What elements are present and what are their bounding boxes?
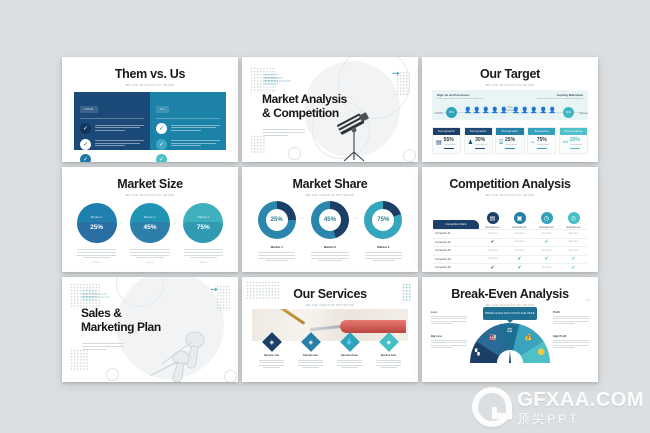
gauge-note: High Profit — [553, 335, 589, 350]
decorative-dots — [402, 283, 412, 301]
comparison-column-them: THEM ✓ ✓ ✓ — [74, 92, 150, 150]
cover-eyebrow: OUR MARKET ANALYSIS REPORT — [263, 77, 293, 84]
column-header-us: US — [156, 106, 169, 113]
cover-body-text — [263, 129, 305, 138]
check-icon: ✓ — [479, 265, 506, 271]
service-item[interactable]: ◈ Service one — [252, 335, 291, 370]
segment-card-caption: Psychographic — [560, 128, 587, 135]
segment-name: Lorem ipsum — [570, 144, 582, 146]
segment-card-caption: Behavioral — [528, 128, 555, 135]
donut-chart: 25% — [258, 201, 296, 239]
list-item-text — [171, 140, 220, 148]
money-bag-icon: 💰 — [525, 335, 532, 341]
slide-thumbnail-market-size[interactable]: Market Size WE ARE CREATIVE PPT BRAND Ma… — [62, 167, 238, 272]
camera-tripod-photo — [324, 100, 380, 162]
share-icon: ⚯ — [563, 140, 568, 146]
check-icon: ✓ — [560, 265, 587, 271]
market-percent: 75% — [197, 224, 210, 231]
segment-name: Lorem ipsum — [505, 144, 517, 146]
icon-glyph: ◈ — [269, 339, 274, 346]
chart-icon: ⌁ — [531, 140, 535, 146]
matrix-label: Competitive Matrix — [433, 220, 479, 229]
clock-icon: ◷ — [541, 212, 553, 224]
segment-percent: 30% — [475, 138, 487, 143]
table-cell: Text here — [560, 241, 587, 243]
market-size-circle: Market 3 75% — [183, 203, 223, 243]
table-column-header: ▤ Example text — [479, 212, 506, 229]
segment-card-caption: Demographic — [465, 128, 492, 135]
globe-icon: ◎ — [568, 212, 580, 224]
chevron-right-icon: › — [174, 221, 176, 227]
decorative-circle — [288, 147, 301, 160]
donut-value: 25% — [258, 201, 296, 239]
donut-value: 75% — [364, 201, 402, 239]
decorative-circle — [106, 368, 119, 381]
axis-tag-left: Lorem — [434, 111, 443, 115]
column-header-them: THEM — [80, 106, 98, 113]
table-column-header: ◷ Example text — [533, 212, 560, 229]
service-body-text — [291, 360, 330, 369]
market-size-item[interactable]: Market 2 45% MORE — [123, 203, 176, 264]
slide-thumbnail-competition-analysis[interactable]: Competition Analysis WE ARE CREATIVE PPT… — [422, 167, 598, 272]
gauge-note: Profit — [553, 311, 589, 326]
check-icon: ✓ — [533, 256, 560, 262]
check-icon: ✓ — [560, 256, 587, 262]
divider — [156, 118, 220, 119]
service-body-text — [252, 360, 291, 369]
slide-thumbnail-market-analysis[interactable]: OUR MARKET ANALYSIS REPORT Market Analys… — [242, 57, 418, 162]
segment-bar — [570, 148, 580, 149]
table-cell: Text here — [479, 250, 506, 252]
market-size-item[interactable]: Market 1 25% MORE — [70, 203, 123, 264]
slide-thumbnail-them-vs-us[interactable]: Them vs. Us WE ARE CREATIVE PPT BRAND TH… — [62, 57, 238, 162]
column-label: Example text — [560, 226, 587, 229]
water-drop-icon: 💧 — [340, 332, 360, 352]
comparison-column-us: US ✓ ✓ ✓ — [150, 92, 226, 150]
column-label: Example text — [479, 226, 506, 229]
comparison-panel: THEM ✓ ✓ ✓ US ✓ — [74, 92, 226, 150]
service-name: Service four — [369, 354, 408, 357]
check-icon: ✓ — [80, 139, 91, 150]
market-percent: 25% — [90, 224, 103, 231]
table-cell: Text here — [479, 233, 506, 235]
page-title: Market Share — [242, 178, 418, 191]
book-icon: ▤ — [487, 212, 499, 224]
page-subtitle: WE ARE CREATIVE PPT BRAND — [62, 194, 238, 197]
donut-chart: 75% — [364, 201, 402, 239]
cover-eyebrow: OUR SALES AND MARKETING PLAN — [82, 293, 112, 300]
segment-bar — [475, 148, 485, 149]
gauge-note: Big Loss — [431, 335, 467, 350]
axis-tag-right: Ipsum — [580, 111, 588, 115]
factory-icon: 🏭 — [489, 335, 496, 341]
persona-bubble-right: 40% — [563, 107, 574, 118]
market-percent: 45% — [143, 224, 156, 231]
check-icon: ✓ — [80, 123, 91, 134]
competition-table: Competitive Matrix ▤ Example text ▣ Exam… — [433, 201, 587, 272]
service-item[interactable]: 💧 Service three — [330, 335, 369, 370]
segment-bar — [537, 148, 547, 149]
segment-card[interactable]: Psychographic ⚯ 20% Lorem ipsum — [559, 127, 588, 154]
segment-card[interactable]: Demographic ⌸ 25% Lorem ipsum — [495, 127, 524, 154]
gauge-note: Loss — [431, 311, 467, 326]
table-row: Competitor #1 Text here Text here Text h… — [433, 229, 587, 238]
earbuds-photo — [148, 320, 220, 382]
segment-percent: 25% — [505, 138, 517, 143]
segment-card[interactable]: Demographic ▤ 55% Lorem ipsum — [432, 127, 461, 154]
service-name: Service two — [291, 354, 330, 357]
segment-card[interactable]: Demographic ♟ 30% Lorem ipsum — [464, 127, 493, 154]
people-icon: ♟ — [468, 140, 473, 146]
watermark-brand: GFXAA.COM — [517, 390, 644, 410]
service-item[interactable]: ◈ Service four — [369, 335, 408, 370]
row-label: Competitor #5 — [433, 266, 479, 269]
decorative-dots — [246, 281, 280, 299]
market-name: Market 3 — [357, 245, 410, 249]
cover-body-text — [82, 343, 124, 352]
check-icon: ✓ — [533, 239, 560, 245]
list-item: ✓ — [156, 154, 220, 162]
persona-label-right: Aspiring Millennials — [557, 93, 583, 97]
gfxaa-logo-icon — [472, 387, 512, 427]
table-cell: Text here — [560, 250, 587, 252]
gauge-chart: ▚ 🏭 ⚖ 💰 🪙 — [470, 323, 550, 363]
list-item: ✓ — [156, 139, 220, 150]
market-body-text — [177, 249, 230, 258]
market-label: Market 1 — [91, 216, 103, 219]
icon-glyph: ◈ — [308, 339, 313, 346]
donut-chart: 45% — [311, 201, 349, 239]
separator-label: VS — [354, 218, 357, 220]
market-body-text — [123, 249, 176, 258]
table-row: Competitor #5 ✓ ✓ Text here ✓ — [433, 263, 587, 272]
persona-label-left: High net worth business — [437, 93, 469, 97]
axis-center-label: CorePersonas — [496, 107, 524, 113]
check-icon: ✓ — [156, 123, 167, 134]
market-size-list: Market 1 25% MORE Market 2 45% MORE Mark — [70, 203, 230, 264]
market-more-link[interactable]: MORE — [123, 262, 176, 264]
page-subtitle: WE ARE CREATIVE PPT BRAND — [422, 194, 598, 197]
page-title: Market Size — [62, 178, 238, 191]
market-more-link[interactable]: MORE — [70, 262, 123, 264]
slide-gallery-board: Them vs. Us WE ARE CREATIVE PPT BRAND TH… — [0, 0, 650, 433]
persona-sub-left: Lorem ipsum dolor sit amet consectetur a… — [437, 98, 485, 101]
separator-label: VS — [300, 218, 303, 220]
decorative-circle — [224, 370, 237, 382]
column-label: Example text — [506, 226, 533, 229]
cover-layout: OUR MARKET ANALYSIS REPORT Market Analys… — [242, 57, 418, 162]
cover-title-line1: Sales & — [81, 307, 122, 321]
image-icon: ▣ — [514, 212, 526, 224]
list-item-text — [171, 156, 220, 162]
watermark-tagline: 顶尖PPT — [517, 413, 644, 425]
diamond-icon: ◈ — [301, 332, 321, 352]
segment-card[interactable]: Behavioral ⌁ 75% Lorem ipsum — [527, 127, 556, 154]
list-item-text — [95, 140, 144, 148]
page-subtitle: WE ARE CREATIVE PPT BRAND — [242, 194, 418, 197]
row-label: Competitor #3 — [433, 249, 479, 252]
decorative-dots — [70, 349, 88, 371]
segment-card-caption: Demographic — [496, 128, 523, 135]
check-icon: ✓ — [156, 139, 167, 150]
market-name: Market 1 — [250, 245, 303, 249]
table-cell: Text here — [560, 233, 587, 235]
market-more-link[interactable]: MORE — [177, 262, 230, 264]
check-icon: ✓ — [156, 154, 167, 162]
services-list: ◈ Service one ◈ Service two 💧 Service th… — [252, 335, 408, 370]
table-cell: Text here — [479, 258, 506, 260]
segment-percent: 75% — [537, 138, 549, 143]
table-column-header: ◎ Example text — [560, 212, 587, 229]
service-name: Service one — [252, 354, 291, 357]
slide-thumbnail-break-even-analysis[interactable]: Break-Even Analysis WE ARE CREATIVE PPT … — [422, 277, 598, 382]
market-name: Market 2 — [303, 245, 356, 249]
market-share-list: 25% Market 1 45% Market 2 75% Market 3 V… — [250, 201, 410, 263]
market-share-item[interactable]: 25% Market 1 — [250, 201, 303, 263]
table-column-header: ▣ Example text — [506, 212, 533, 229]
list-item: ✓ — [80, 154, 144, 162]
center-pill-label: BREAK-EVEN ANALYSIS PLACE HERE — [483, 307, 537, 320]
market-size-circle: Market 2 45% — [130, 203, 170, 243]
page-subtitle: WE ARE CREATIVE PPT BRAND — [242, 304, 418, 307]
segment-name: Lorem ipsum — [444, 144, 456, 146]
list-item: ✓ — [80, 123, 144, 134]
segment-bar — [505, 148, 515, 149]
coins-icon: 🪙 — [538, 350, 545, 356]
donut-value: 45% — [311, 201, 349, 239]
diamond-icon: ◈ — [262, 332, 282, 352]
note-title: Profit — [553, 311, 589, 314]
table-cell: Text here — [506, 241, 533, 243]
page-subtitle: WE ARE CREATIVE PPT BRAND — [422, 84, 598, 87]
list-item: ✓ — [156, 123, 220, 134]
row-label: Competitor #4 — [433, 258, 479, 261]
watermark: GFXAA.COM 顶尖PPT — [472, 387, 644, 427]
page-title: Competition Analysis — [422, 178, 598, 191]
segment-percent: 55% — [444, 138, 456, 143]
segment-name: Lorem ipsum — [537, 144, 549, 146]
note-title: Big Loss — [431, 335, 467, 338]
persona-bubble-left: 25% — [446, 107, 457, 118]
market-body-text — [250, 252, 303, 261]
service-name: Service three — [330, 354, 369, 357]
grid-icon: ▤ — [436, 140, 442, 146]
market-share-item[interactable]: 75% Market 3 — [357, 201, 410, 263]
divider — [80, 118, 144, 119]
row-label: Competitor #1 — [433, 232, 479, 235]
cover-layout: OUR SALES AND MARKETING PLAN Sales & Mar… — [62, 277, 238, 382]
column-label: Example text — [533, 226, 560, 229]
table-row: Competitor #3 Text here Text here Text h… — [433, 246, 587, 255]
service-body-text — [369, 360, 408, 369]
scales-icon: ⚖ — [507, 328, 512, 334]
segment-name: Lorem ipsum — [475, 144, 487, 146]
list-item-text — [171, 125, 220, 133]
check-icon: ✓ — [80, 154, 91, 162]
slide-thumbnail-sales-marketing-plan[interactable]: OUR SALES AND MARKETING PLAN Sales & Mar… — [62, 277, 238, 382]
chevron-right-icon: › — [120, 221, 122, 227]
persona-sub-right: Lorem ipsum dolor sit amet consectetur a… — [535, 98, 583, 101]
service-body-text — [330, 360, 369, 369]
table-row: Your organization ✓ ✓ Text here Text her… — [433, 272, 587, 273]
market-size-circle: Market 1 25% — [77, 203, 117, 243]
segment-card-caption: Demographic — [433, 128, 460, 135]
check-icon: ✓ — [506, 256, 533, 262]
table-cell: Text here — [533, 267, 560, 269]
segment-card-list: Demographic ▤ 55% Lorem ipsum Demographi… — [432, 127, 588, 154]
table-header-row: Competitive Matrix ▤ Example text ▣ Exam… — [433, 201, 587, 229]
watermark-text: GFXAA.COM 顶尖PPT — [517, 390, 644, 425]
market-label: Market 3 — [197, 216, 209, 219]
note-title: Loss — [431, 311, 467, 314]
note-title: High Profit — [553, 335, 589, 338]
list-item-text — [95, 125, 144, 133]
market-label: Market 2 — [144, 216, 156, 219]
slide-thumbnail-our-services[interactable]: Our Services WE ARE CREATIVE PPT BRAND ◈… — [242, 277, 418, 382]
segment-percent: 20% — [570, 138, 582, 143]
photo-object-gold — [271, 309, 306, 325]
segment-bar — [444, 148, 454, 149]
bar-chart-down-icon: ▚ — [475, 350, 480, 356]
check-icon: ✓ — [506, 265, 533, 271]
page-title: Our Target — [422, 68, 598, 81]
table-row: Competitor #2 ✓ Text here ✓ Text here — [433, 238, 587, 247]
table-cell: Text here — [506, 250, 533, 252]
check-icon: ✓ — [479, 239, 506, 245]
icon-glyph: ◈ — [386, 339, 391, 346]
list-item: ✓ — [80, 139, 144, 150]
table-row: Competitor #4 Text here ✓ ✓ ✓ — [433, 255, 587, 264]
icon-glyph: 💧 — [346, 338, 353, 345]
table-cell: Text here — [533, 250, 560, 252]
diamond-icon: ◈ — [379, 332, 399, 352]
slide-thumbnail-market-share[interactable]: Market Share WE ARE CREATIVE PPT BRAND 2… — [242, 167, 418, 272]
page-title: Them vs. Us — [62, 68, 238, 81]
market-size-item[interactable]: Market 3 75% MORE — [177, 203, 230, 264]
slide-thumbnail-our-target[interactable]: Our Target WE ARE CREATIVE PPT BRAND Hig… — [422, 57, 598, 162]
market-body-text — [70, 249, 123, 258]
list-item-text — [95, 156, 144, 162]
service-item[interactable]: ◈ Service two — [291, 335, 330, 370]
device-icon: ⌸ — [499, 140, 503, 146]
page-subtitle: WE ARE CREATIVE PPT BRAND — [62, 84, 238, 87]
table-cell: Text here — [533, 233, 560, 235]
gauge-needle — [509, 350, 511, 363]
row-label: Competitor #2 — [433, 241, 479, 244]
decorative-circle — [403, 149, 416, 162]
page-title: Break-Even Analysis — [422, 288, 598, 301]
market-body-text — [357, 252, 410, 261]
table-cell: Text here — [506, 233, 533, 235]
market-share-item[interactable]: 45% Market 2 — [303, 201, 356, 263]
market-body-text — [303, 252, 356, 261]
